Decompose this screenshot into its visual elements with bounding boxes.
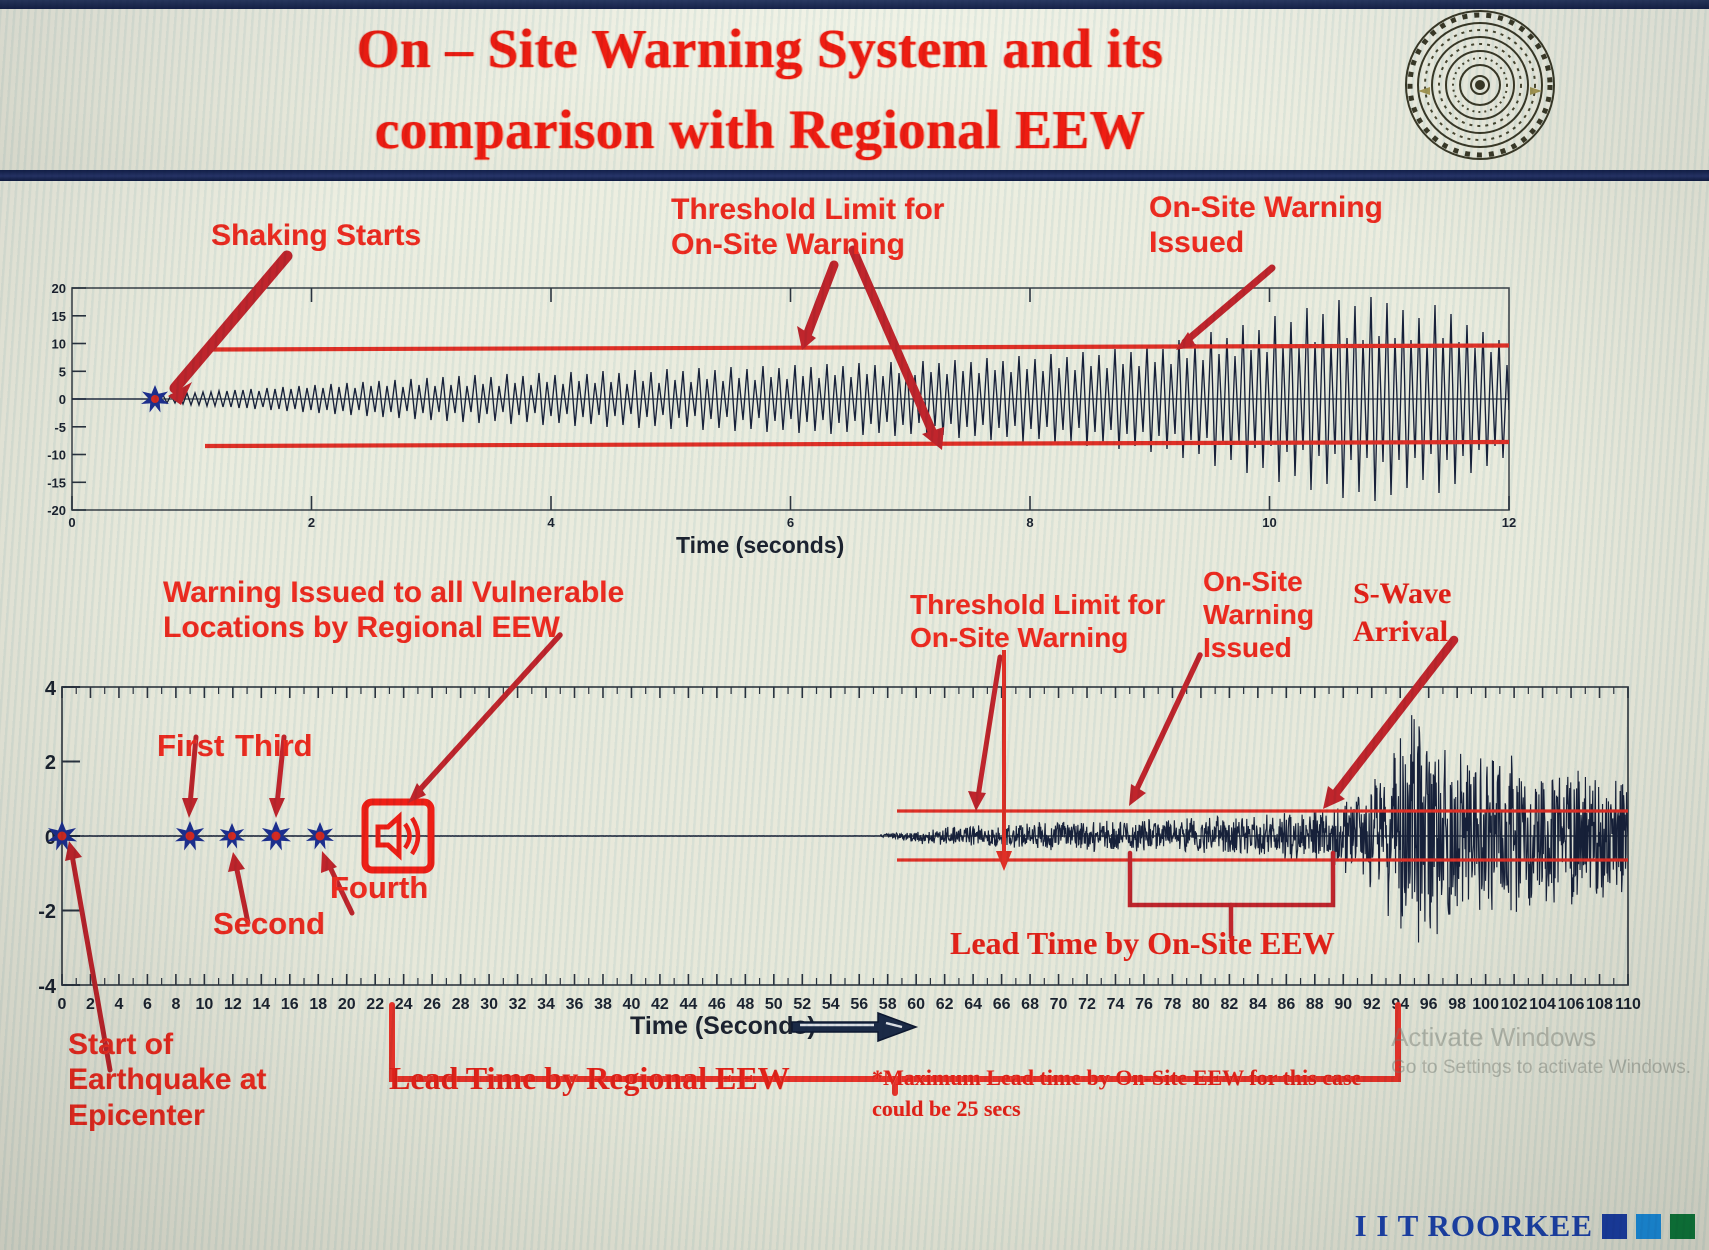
svg-text:0: 0 [58,996,67,1013]
window-top-band [0,0,1709,9]
svg-text:0: 0 [68,515,75,530]
svg-text:16: 16 [281,996,299,1013]
svg-text:-5: -5 [54,420,66,435]
annotation-start-of-earthquake: Start of Earthquake at Epicenter [68,1027,266,1133]
svg-text:10: 10 [195,996,213,1013]
svg-text:98: 98 [1448,996,1466,1013]
svg-text:4: 4 [45,678,57,700]
svg-text:12: 12 [1502,515,1516,530]
annotation-onsite-warning-issued-top: On-Site Warning Issued [1149,190,1383,261]
annotation-regional-warning: Warning Issued to all Vulnerable Locatio… [163,575,624,646]
svg-text:100: 100 [1472,996,1499,1013]
svg-text:108: 108 [1586,996,1613,1013]
footer-square-2 [1636,1214,1661,1239]
page-title-line1: On – Site Warning System and its [150,8,1370,89]
bottom-chart-xlabel: Time (Seconds) [630,1012,816,1041]
footer-square-3 [1670,1214,1695,1239]
svg-text:26: 26 [423,996,441,1013]
top-threshold-lower [205,442,1509,446]
svg-text:44: 44 [680,996,698,1013]
svg-text:20: 20 [338,996,356,1013]
time-direction-arrow-icon [790,1010,920,1044]
svg-text:74: 74 [1107,996,1125,1013]
svg-text:96: 96 [1420,996,1438,1013]
svg-text:10: 10 [52,337,66,352]
svg-text:20: 20 [52,281,66,296]
svg-text:-15: -15 [47,475,66,490]
svg-text:36: 36 [566,996,584,1013]
annotation-second: Second [213,906,325,943]
watermark-line2: Go to Settings to activate Windows. [1391,1055,1691,1081]
svg-text:32: 32 [509,996,527,1013]
svg-text:5: 5 [59,364,66,379]
annotation-footnote: *Maximum Lead time by On-Site EEW for th… [872,1062,1361,1124]
svg-text:76: 76 [1135,996,1153,1013]
annotation-threshold-limit-bottom: Threshold Limit for On-Site Warning [910,588,1165,654]
svg-text:80: 80 [1192,996,1210,1013]
svg-text:86: 86 [1277,996,1295,1013]
svg-text:66: 66 [993,996,1011,1013]
annotation-third: Third [235,728,313,765]
page-title: On – Site Warning System and its compari… [150,8,1370,171]
iit-roorkee-footer-logo: I I T ROORKEE [1355,1208,1695,1244]
svg-text:14: 14 [252,996,270,1013]
header-divider [0,170,1709,181]
page-title-line2: comparison with Regional EEW [150,89,1370,170]
svg-text:28: 28 [452,996,470,1013]
svg-text:2: 2 [86,996,95,1013]
svg-text:-20: -20 [47,503,66,518]
svg-text:-4: -4 [38,976,57,998]
svg-text:22: 22 [366,996,384,1013]
annotation-shaking-starts: Shaking Starts [211,218,421,253]
svg-text:10: 10 [1262,515,1276,530]
annotation-fourth: Fourth [330,870,428,907]
svg-text:4: 4 [114,996,123,1013]
annotation-lead-time-regional: Lead Time by Regional EEW [389,1060,790,1098]
top-accelerogram-chart: 20 15 10 5 0 -5 -10 -15 -20 [0,270,1560,540]
svg-text:2: 2 [308,515,315,530]
footer-square-1 [1602,1214,1627,1239]
svg-text:15: 15 [52,309,66,324]
annotation-lead-time-onsite: Lead Time by On-Site EEW [950,925,1335,963]
svg-text:18: 18 [309,996,327,1013]
bottom-annotation-arrows [65,635,1454,1070]
top-chart-svg: 20 15 10 5 0 -5 -10 -15 -20 [0,270,1560,540]
svg-text:30: 30 [480,996,498,1013]
svg-text:88: 88 [1306,996,1324,1013]
svg-text:40: 40 [623,996,641,1013]
svg-text:106: 106 [1558,996,1585,1013]
svg-text:84: 84 [1249,996,1267,1013]
top-chart-xlabel: Time (seconds) [676,532,844,559]
svg-text:48: 48 [736,996,754,1013]
svg-text:50: 50 [765,996,783,1013]
svg-text:38: 38 [594,996,612,1013]
svg-text:24: 24 [395,996,413,1013]
svg-text:70: 70 [1050,996,1068,1013]
windows-activation-watermark: Activate Windows Go to Settings to activ… [1391,1020,1691,1081]
svg-text:78: 78 [1164,996,1182,1013]
svg-text:64: 64 [964,996,982,1013]
svg-text:0: 0 [59,392,66,407]
svg-text:90: 90 [1334,996,1352,1013]
svg-text:6: 6 [143,996,152,1013]
svg-text:-2: -2 [38,901,56,923]
annotation-threshold-limit-top: Threshold Limit for On-Site Warning [671,192,944,263]
annotation-first: First [157,728,224,765]
svg-text:82: 82 [1220,996,1238,1013]
svg-text:92: 92 [1363,996,1381,1013]
svg-text:12: 12 [224,996,242,1013]
svg-text:34: 34 [537,996,555,1013]
svg-text:104: 104 [1529,996,1556,1013]
svg-text:62: 62 [936,996,954,1013]
svg-text:46: 46 [708,996,726,1013]
svg-text:8: 8 [171,996,180,1013]
svg-text:4: 4 [547,515,555,530]
svg-text:72: 72 [1078,996,1096,1013]
svg-text:-10: -10 [47,448,66,463]
svg-text:8: 8 [1026,515,1033,530]
svg-text:6: 6 [787,515,794,530]
iit-roorkee-seal-icon [1400,5,1560,165]
iit-roorkee-brand-text: I I T ROORKEE [1355,1208,1593,1244]
svg-text:42: 42 [651,996,669,1013]
annotation-s-wave-arrival: S-Wave Arrival [1353,575,1451,651]
annotation-onsite-warning-issued-bottom: On-Site Warning Issued [1203,565,1314,664]
top-threshold-upper [205,346,1509,350]
svg-text:102: 102 [1501,996,1528,1013]
svg-text:2: 2 [45,752,56,774]
svg-text:110: 110 [1615,996,1641,1013]
watermark-line1: Activate Windows [1391,1020,1691,1055]
svg-text:68: 68 [1021,996,1039,1013]
